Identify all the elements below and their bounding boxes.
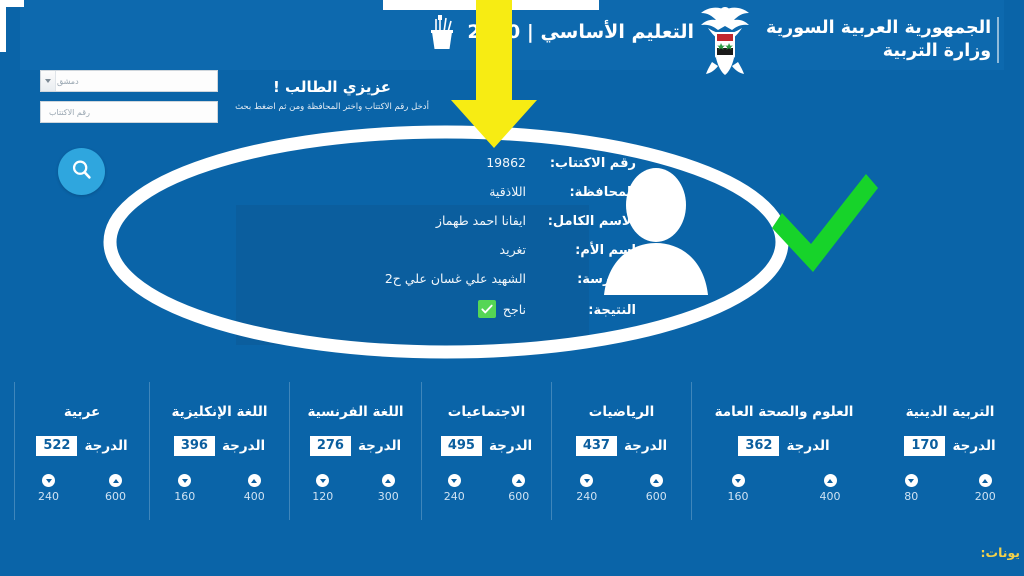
governorate-select-value: دمشق: [57, 77, 79, 86]
subject-grade-label: الدرجة: [222, 438, 265, 454]
check-icon: [478, 300, 496, 318]
subject-max-group: 600: [105, 474, 126, 503]
ministry-header: الجمهورية العربية السورية وزارة التربية: [694, 0, 1024, 80]
subject-min-value: 160: [728, 490, 749, 503]
subject-card: العلوم والصحة العامةالدرجة362400160: [691, 382, 876, 520]
subject-name: عربية: [64, 404, 100, 420]
subject-min-value: 160: [174, 490, 195, 503]
subject-min-group: 160: [728, 474, 749, 503]
registration-number-input[interactable]: رقم الاكتتاب: [40, 101, 218, 123]
student-info-value-text: ناجح: [503, 302, 526, 317]
subject-minmax-row: 600240: [552, 474, 691, 503]
student-info-value-text: تغريد: [500, 242, 526, 257]
subject-card: التربية الدينيةالدرجة17020080: [876, 382, 1024, 520]
subject-name: الاجتماعيات: [448, 404, 525, 420]
student-info-value: ناجح: [478, 300, 544, 318]
subject-grade-label: الدرجة: [786, 438, 829, 454]
arrow-up-icon: [979, 474, 992, 487]
subject-min-value: 240: [576, 490, 597, 503]
subject-grade-row: الدرجة362: [738, 436, 829, 456]
student-info-value: ايفانا احمد طهماز: [436, 213, 544, 228]
search-icon: [70, 158, 94, 185]
pencil-cup-icon: [425, 12, 459, 52]
subject-max-group: 200: [975, 474, 996, 503]
subject-grade-row: الدرجة170: [904, 436, 995, 456]
student-info-label: رقم الاكتتاب:: [544, 156, 636, 171]
subject-min-value: 240: [444, 490, 465, 503]
subject-grades-strip: التربية الدينيةالدرجة17020080العلوم والص…: [0, 382, 1024, 520]
subject-max-group: 600: [508, 474, 529, 503]
subject-grade-label: الدرجة: [624, 438, 667, 454]
subject-max-value: 300: [378, 490, 399, 503]
student-info-label: المحافظة:: [544, 185, 636, 200]
subject-max-value: 400: [244, 490, 265, 503]
subject-name: العلوم والصحة العامة: [715, 404, 854, 420]
arrow-up-icon: [512, 474, 525, 487]
subject-min-group: 160: [174, 474, 195, 503]
subject-min-value: 80: [904, 490, 918, 503]
student-info-label: المدرسة:: [544, 272, 636, 287]
page-title: التعليم الأساسي | 2020: [467, 21, 694, 43]
subject-minmax-row: 600240: [422, 474, 551, 503]
greeting-title: عزيزي الطالب !: [232, 78, 432, 96]
arrow-up-icon: [248, 474, 261, 487]
subject-card: الاجتماعياتالدرجة495600240: [421, 382, 551, 520]
footer-band: [0, 520, 1024, 576]
student-info-row: اسم الأم:تغريد: [336, 242, 636, 271]
ministry-name-line1: الجمهورية العربية السورية: [766, 17, 991, 40]
subject-grade-row: الدرجة396: [174, 436, 265, 456]
subject-name: اللغة الفرنسية: [307, 404, 403, 420]
subject-minmax-row: 400160: [150, 474, 289, 503]
ministry-name-line2: وزارة التربية: [766, 40, 991, 63]
student-info-rows: رقم الاكتتاب:19862المحافظة:اللاذقيةالاسم…: [336, 155, 636, 329]
green-checkmark-annotation: [766, 166, 884, 284]
student-info-row: رقم الاكتتاب:19862: [336, 155, 636, 184]
subject-max-value: 600: [508, 490, 529, 503]
subject-grade-label: الدرجة: [952, 438, 995, 454]
subject-grade-row: الدرجة276: [310, 436, 401, 456]
arrow-up-icon: [650, 474, 663, 487]
ministry-title-block: الجمهورية العربية السورية وزارة التربية: [766, 17, 999, 63]
arrow-down-icon: [178, 474, 191, 487]
subject-max-value: 600: [105, 490, 126, 503]
subject-card: الرياضياتالدرجة437600240: [551, 382, 691, 520]
arrow-down-icon: [905, 474, 918, 487]
registration-number-placeholder: رقم الاكتتاب: [49, 108, 90, 117]
student-info-row: الاسم الكامل:ايفانا احمد طهماز: [336, 213, 636, 242]
subject-grade-value: 170: [904, 436, 945, 456]
student-info-label: النتيجة:: [544, 303, 636, 318]
chevron-down-icon[interactable]: [41, 71, 56, 91]
subject-minmax-row: 600240: [15, 474, 149, 503]
arrow-up-icon: [109, 474, 122, 487]
student-info-value-text: 19862: [486, 155, 526, 170]
footer-note: يونات:: [981, 545, 1020, 560]
subject-minmax-row: 300120: [290, 474, 421, 503]
subject-min-group: 240: [38, 474, 59, 503]
student-info-row: المدرسة:الشهيد علي غسان علي ح2: [336, 271, 636, 300]
governorate-select[interactable]: دمشق: [40, 70, 218, 92]
subject-grade-row: الدرجة437: [576, 436, 667, 456]
subject-max-group: 400: [244, 474, 265, 503]
student-info-label: اسم الأم:: [544, 243, 636, 258]
student-info-value-text: الشهيد علي غسان علي ح2: [385, 271, 526, 286]
page-title-row: التعليم الأساسي | 2020: [425, 12, 694, 52]
page-chrome-bar-edge: [0, 0, 6, 52]
subject-max-value: 400: [820, 490, 841, 503]
subject-min-group: 120: [312, 474, 333, 503]
subject-grade-label: الدرجة: [358, 438, 401, 454]
student-info-value-text: اللاذقية: [489, 184, 526, 199]
subject-grade-row: الدرجة495: [441, 436, 532, 456]
subject-grade-label: الدرجة: [489, 438, 532, 454]
syrian-eagle-emblem-icon: [694, 4, 756, 76]
subject-name: الرياضيات: [589, 404, 654, 420]
student-info-value-text: ايفانا احمد طهماز: [436, 213, 526, 228]
arrow-down-icon: [316, 474, 329, 487]
search-button[interactable]: [58, 148, 105, 195]
subject-grade-value: 437: [576, 436, 617, 456]
student-info-value: اللاذقية: [489, 184, 544, 199]
arrow-down-icon: [732, 474, 745, 487]
subject-minmax-row: 20080: [876, 474, 1024, 503]
page-chrome-bar-center: [383, 0, 599, 10]
arrow-up-icon: [824, 474, 837, 487]
lookup-form: دمشق رقم الاكتتاب: [38, 70, 218, 132]
student-info-value: 19862: [486, 155, 544, 170]
subject-max-group: 300: [378, 474, 399, 503]
student-info-value: الشهيد علي غسان علي ح2: [385, 271, 544, 286]
student-info-row: المحافظة:اللاذقية: [336, 184, 636, 213]
subject-max-group: 600: [646, 474, 667, 503]
subject-grade-value: 522: [36, 436, 77, 456]
greeting-subtitle: أدخل رقم الاكتتاب واختر المحافظة ومن ثم …: [232, 101, 432, 113]
subject-max-group: 400: [820, 474, 841, 503]
subject-min-value: 120: [312, 490, 333, 503]
greeting-block: عزيزي الطالب ! أدخل رقم الاكتتاب واختر ا…: [232, 78, 432, 113]
subject-min-group: 80: [904, 474, 918, 503]
subject-grade-value: 362: [738, 436, 779, 456]
student-info-label: الاسم الكامل:: [544, 214, 636, 229]
screenshot-root: الجمهورية العربية السورية وزارة التربية: [0, 0, 1024, 576]
arrow-down-icon: [448, 474, 461, 487]
subject-name: اللغة الإنكليزية: [172, 404, 268, 420]
student-info-value: تغريد: [500, 242, 544, 257]
subject-minmax-row: 400160: [692, 474, 876, 503]
subject-card: اللغة الفرنسيةالدرجة276300120: [289, 382, 421, 520]
arrow-down-icon: [580, 474, 593, 487]
subject-card: عربيةالدرجة522600240: [14, 382, 149, 520]
subject-grade-label: الدرجة: [84, 438, 127, 454]
student-info-row: النتيجة:ناجح: [336, 300, 636, 329]
arrow-up-icon: [382, 474, 395, 487]
subject-card: اللغة الإنكليزيةالدرجة396400160: [149, 382, 289, 520]
subject-grade-value: 495: [441, 436, 482, 456]
subject-min-value: 240: [38, 490, 59, 503]
subject-min-group: 240: [576, 474, 597, 503]
subject-max-value: 200: [975, 490, 996, 503]
arrow-down-icon: [42, 474, 55, 487]
subject-grade-value: 276: [310, 436, 351, 456]
subject-name: التربية الدينية: [906, 404, 995, 420]
subject-grade-value: 396: [174, 436, 215, 456]
subject-min-group: 240: [444, 474, 465, 503]
subject-grade-row: الدرجة522: [36, 436, 127, 456]
subject-max-value: 600: [646, 490, 667, 503]
